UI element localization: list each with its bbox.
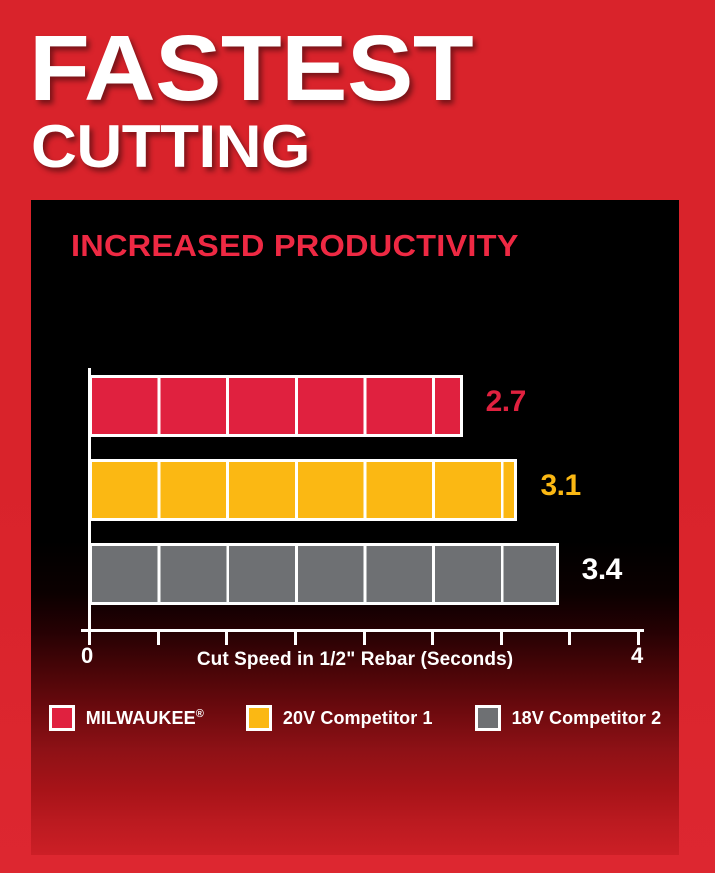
x-tick (294, 632, 297, 645)
x-tick (225, 632, 228, 645)
bar-value-label-1: 2.7 (486, 385, 526, 419)
bar-value-label-3: 3.4 (582, 553, 622, 587)
poster-root: FASTEST CUTTING INCREASED PRODUCTIVITY 2… (0, 0, 715, 873)
chart-legend: MILWAUKEE®20V Competitor 118V Competitor… (31, 705, 679, 731)
headline-primary: FASTEST (29, 22, 473, 115)
registered-mark: ® (196, 708, 204, 720)
plot-area: 2.73.13.4 0 4 Cut Speed in 1/2" Rebar (S… (31, 200, 679, 855)
legend-swatch-3 (475, 705, 501, 731)
legend-swatch-2 (246, 705, 272, 731)
legend-label-3: 18V Competitor 2 (512, 708, 662, 729)
headline-secondary: CUTTING (31, 117, 310, 177)
x-tick (568, 632, 571, 645)
legend-item-1: MILWAUKEE® (49, 705, 204, 731)
x-tick (500, 632, 503, 645)
legend-label-2: 20V Competitor 1 (283, 708, 433, 729)
bar-3 (89, 543, 559, 605)
x-tick (157, 632, 160, 645)
legend-item-3: 18V Competitor 2 (475, 705, 662, 731)
legend-item-2: 20V Competitor 1 (246, 705, 433, 731)
headline-block: FASTEST CUTTING (0, 0, 715, 200)
legend-swatch-1 (49, 705, 75, 731)
bar-2 (89, 459, 517, 521)
chart-panel: INCREASED PRODUCTIVITY 2.73.13.4 0 4 Cut… (31, 200, 679, 855)
x-tick (431, 632, 434, 645)
x-tick (363, 632, 366, 645)
bar-1 (89, 375, 463, 437)
legend-label-1: MILWAUKEE® (86, 708, 204, 729)
bar-value-label-2: 3.1 (540, 469, 580, 503)
x-axis-title: Cut Speed in 1/2" Rebar (Seconds) (31, 649, 679, 671)
